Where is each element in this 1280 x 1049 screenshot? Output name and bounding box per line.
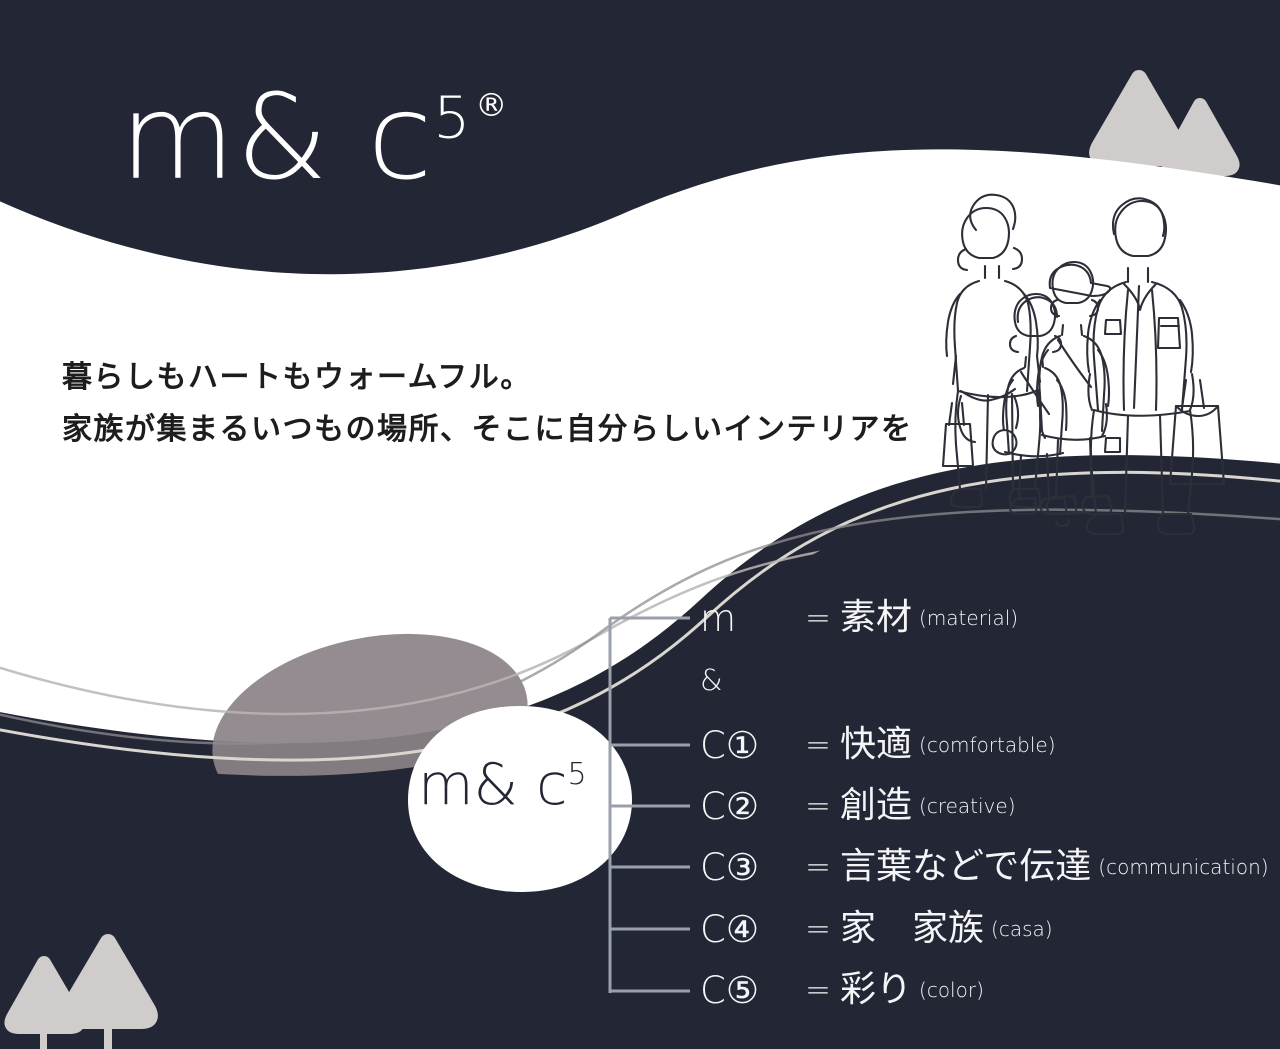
definition-japanese: 彩り <box>840 972 912 1008</box>
definition-equals: = <box>796 975 840 1006</box>
definition-japanese: 創造 <box>840 788 912 824</box>
tagline-line-2: 家族が集まるいつもの場所、そこに自分らしいインテリアを <box>62 404 913 456</box>
definition-row: C①=快適(comfortable) <box>700 723 1056 767</box>
definition-equals: = <box>796 852 840 883</box>
brand-logo: m& c5® <box>120 78 504 196</box>
definition-equals: = <box>796 914 840 945</box>
definition-english: (creative) <box>919 796 1015 816</box>
definition-row: C⑤=彩り(color) <box>700 968 984 1012</box>
definition-equals: = <box>796 730 840 761</box>
definition-key: & <box>700 666 796 695</box>
definition-japanese: 快適 <box>840 727 912 763</box>
definition-key: C④ <box>700 911 796 948</box>
definition-english: (material) <box>919 608 1018 628</box>
definition-english: (communication) <box>1098 857 1268 877</box>
definition-key: C③ <box>700 849 796 886</box>
registered-trademark-icon: ® <box>475 86 508 124</box>
tagline-line-1: 暮らしもハートもウォームフル。 <box>62 352 913 404</box>
badge-logo-text: m& c <box>418 752 567 818</box>
definition-english: (color) <box>919 980 984 1000</box>
definition-english: (casa) <box>991 919 1053 939</box>
definition-row: & <box>700 658 796 702</box>
definition-japanese: 言葉などで伝達 <box>840 849 1091 885</box>
definition-key: C① <box>700 727 796 764</box>
brand-logo-superscript: 5 <box>433 84 471 152</box>
definition-equals: = <box>796 791 840 822</box>
definition-key: C② <box>700 788 796 825</box>
brand-logo-text: m& c <box>120 68 433 206</box>
definition-english: (comfortable) <box>919 735 1055 755</box>
definition-row: C③=言葉などで伝達(communication) <box>700 845 1269 889</box>
badge-logo-superscript: 5 <box>567 757 586 792</box>
definition-key: C⑤ <box>700 972 796 1009</box>
definition-key: m <box>700 600 796 637</box>
definition-row: m=素材(material) <box>700 596 1018 640</box>
definition-japanese: 素材 <box>840 600 912 636</box>
definition-row: C②=創造(creative) <box>700 784 1016 828</box>
definition-japanese: 家 家族 <box>840 911 984 947</box>
tagline: 暮らしもハートもウォームフル。 家族が集まるいつもの場所、そこに自分らしいインテ… <box>62 352 913 456</box>
definition-equals: = <box>796 603 840 634</box>
badge-logo: m& c5 <box>418 757 587 814</box>
definition-row: C④=家 家族(casa) <box>700 907 1053 951</box>
poster-root: m& c5® 暮らしもハートもウォームフル。 家族が集まるいつもの場所、そこに自… <box>0 0 1280 1049</box>
